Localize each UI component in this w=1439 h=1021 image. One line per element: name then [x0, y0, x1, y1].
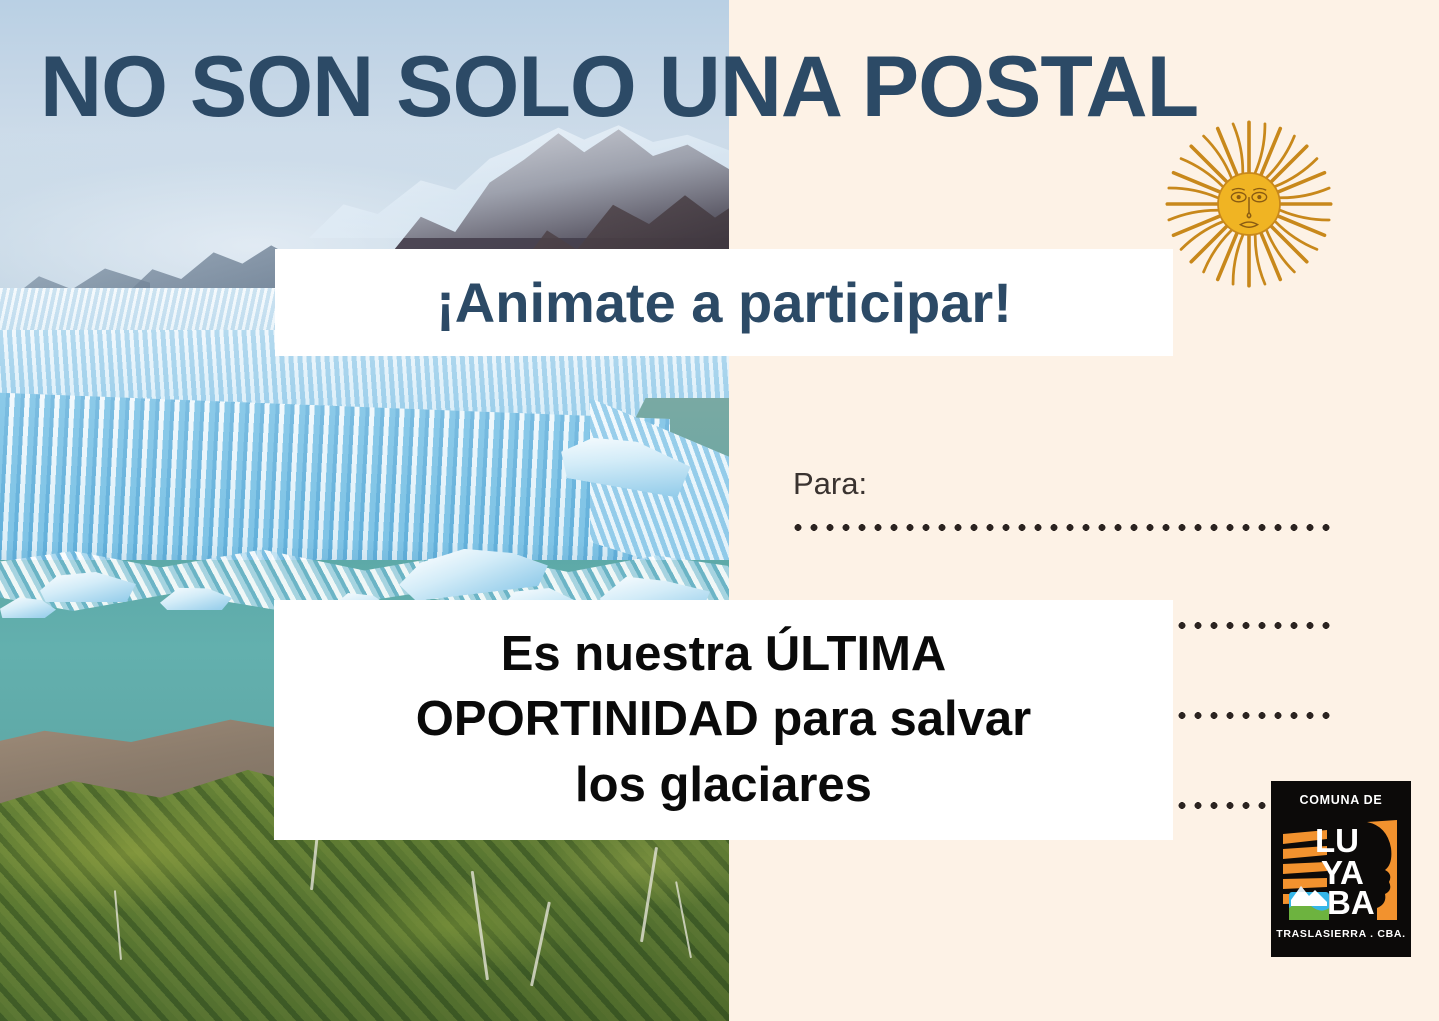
comuna-luyaba-logo: COMUNA DE LU YA BA — [1271, 781, 1411, 957]
message-line-1: Es nuestra ÚLTIMA — [416, 622, 1031, 687]
logo-artwork: LU YA BA — [1275, 808, 1407, 930]
logo-top-text: COMUNA DE — [1300, 793, 1383, 807]
message-banner-text: Es nuestra ÚLTIMA OPORTINIDAD para salva… — [394, 622, 1053, 817]
poster-title: NO SON SOLO UNA POSTAL — [40, 44, 1410, 130]
perito-moreno-glacier-photo — [0, 0, 729, 1021]
para-label: Para: — [793, 466, 867, 502]
sun-of-may-icon — [1163, 118, 1335, 290]
svg-text:BA: BA — [1327, 884, 1375, 921]
logo-mountain-lake-icon — [1289, 886, 1329, 920]
message-line-3: los glaciares — [416, 753, 1031, 818]
poster-canvas: NO SON SOLO UNA POSTAL ¡Animate a partic… — [0, 0, 1439, 1021]
animate-banner-text: ¡Animate a participar! — [436, 275, 1012, 331]
address-dotted-line-1[interactable] — [790, 524, 1338, 531]
message-line-2: OPORTINIDAD para salvar — [416, 687, 1031, 752]
animate-banner: ¡Animate a participar! — [275, 249, 1173, 356]
message-banner: Es nuestra ÚLTIMA OPORTINIDAD para salva… — [274, 600, 1173, 840]
